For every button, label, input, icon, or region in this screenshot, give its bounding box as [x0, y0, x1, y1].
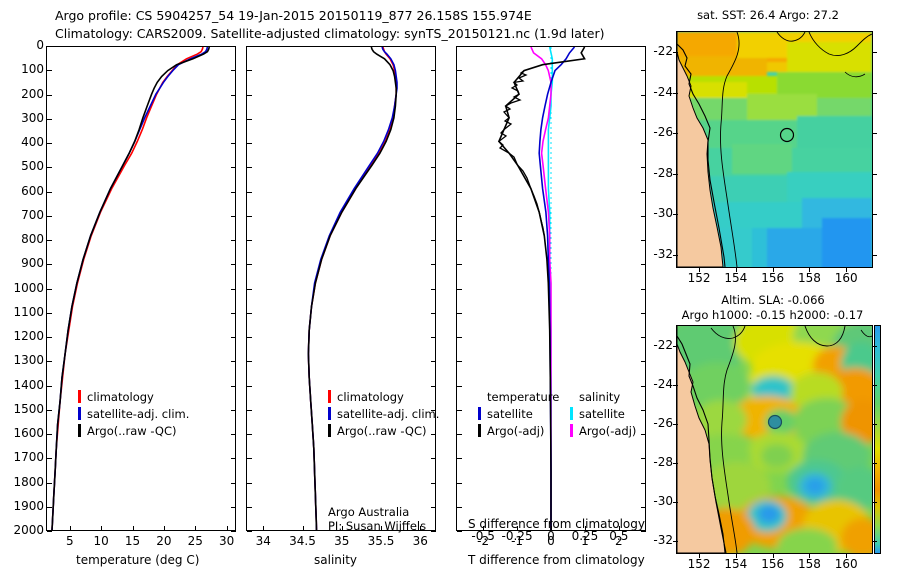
tick-mark [231, 458, 236, 459]
sla-map-title-line2: Argo h1000: -0.15 h2000: -0.17 [655, 308, 890, 322]
map-lat-tick: -30 [629, 494, 673, 508]
tick-mark [673, 255, 678, 256]
tick-mark [231, 167, 236, 168]
tick-mark [47, 361, 52, 362]
tick-mark [231, 410, 236, 411]
credit-agency: Argo Australia [328, 505, 409, 519]
legend-label-argo: Argo(..raw -QC) [87, 424, 177, 438]
tick-mark [231, 70, 236, 71]
depth-tick: 1800 [0, 475, 44, 489]
depth-tick: 1900 [0, 499, 44, 513]
tick-mark [641, 216, 646, 217]
sst-map-canvas [677, 32, 872, 267]
tick-mark [231, 531, 236, 532]
temperature-panel [46, 46, 236, 531]
tick-mark [247, 531, 252, 532]
tick-mark [457, 216, 462, 217]
tick-mark [247, 167, 252, 168]
salinity-plot [247, 47, 435, 530]
tick-mark [247, 458, 252, 459]
tick-mark [431, 337, 436, 338]
tick-mark [673, 385, 678, 386]
tick-mark [247, 46, 252, 47]
tick-mark [673, 346, 678, 347]
tick-mark [133, 526, 134, 531]
figure-root: Argo profile: CS 5904257_54 19-Jan-2015 … [0, 0, 900, 580]
map-lon-tick: 156 [753, 557, 793, 571]
tick-mark [164, 526, 165, 531]
tick-mark [47, 289, 52, 290]
tick-mark [457, 167, 462, 168]
tick-mark [483, 526, 484, 531]
tick-mark [431, 386, 436, 387]
tick-mark [773, 267, 774, 272]
tick-mark [457, 313, 462, 314]
tick-mark [381, 526, 382, 531]
depth-tick: 1400 [0, 378, 44, 392]
tick-mark [247, 386, 252, 387]
tick-mark [263, 526, 264, 531]
tick-mark [872, 346, 877, 347]
tick-mark [457, 361, 462, 362]
tick-mark [70, 526, 71, 531]
sst-map-title: sat. SST: 26.4 Argo: 27.2 [663, 8, 873, 22]
depth-tick: 600 [0, 184, 44, 198]
tick-mark [195, 526, 196, 531]
tick-mark [231, 313, 236, 314]
sst-map[interactable] [676, 31, 873, 268]
tick-mark [457, 531, 462, 532]
tick-mark [47, 531, 52, 532]
legend-header-salinity: salinity [579, 390, 620, 404]
tick-mark [231, 337, 236, 338]
map-lon-tick: 154 [716, 271, 756, 285]
tick-mark [431, 216, 436, 217]
depth-tick: 1700 [0, 450, 44, 464]
tick-mark [231, 434, 236, 435]
tick-mark [809, 267, 810, 272]
depth-tick: 300 [0, 111, 44, 125]
temperature-plot [47, 47, 235, 530]
tick-mark [641, 240, 646, 241]
temperature-xlabel: temperature (deg C) [76, 553, 199, 567]
legend-swatch-s-argo [570, 424, 573, 437]
tick-mark [231, 192, 236, 193]
tick-mark [47, 386, 52, 387]
tick-mark [247, 289, 252, 290]
tick-mark [641, 46, 646, 47]
tick-mark [431, 483, 436, 484]
tick-mark [641, 507, 646, 508]
tick-mark [872, 93, 877, 94]
tick-mark [457, 507, 462, 508]
depth-tick: 200 [0, 87, 44, 101]
map-lat-tick: -22 [629, 338, 673, 352]
tick-mark [641, 337, 646, 338]
tick-mark [231, 361, 236, 362]
difference-xlabel: T difference from climatology [468, 553, 645, 567]
tick-mark [431, 313, 436, 314]
depth-tick: 0 [0, 38, 44, 52]
depth-tick: 1300 [0, 353, 44, 367]
legend-swatch-t-argo [478, 424, 481, 437]
tick-mark [47, 46, 52, 47]
salinity-panel [246, 46, 436, 531]
tick-mark [619, 526, 620, 531]
tick-mark [457, 483, 462, 484]
tick-mark [673, 133, 678, 134]
tick-mark [872, 255, 877, 256]
map-lat-tick: -28 [629, 166, 673, 180]
tick-mark [431, 119, 436, 120]
tick-mark [872, 52, 877, 53]
tick-mark [227, 526, 228, 531]
legend-label-s-argo: Argo(-adj) [579, 424, 636, 438]
tick-mark [872, 385, 877, 386]
tick-mark [457, 264, 462, 265]
tick-mark [431, 167, 436, 168]
tick-mark [457, 240, 462, 241]
tick-mark [47, 192, 52, 193]
tick-mark [231, 119, 236, 120]
legend-label-climatology: climatology [337, 390, 404, 404]
tick-mark [641, 167, 646, 168]
map-lon-tick: 158 [789, 557, 829, 571]
tick-mark [231, 46, 236, 47]
tick-mark [872, 133, 877, 134]
salinity-xlabel: salinity [314, 553, 357, 567]
tick-mark [872, 541, 877, 542]
sla-map-canvas [677, 326, 872, 553]
tick-mark [231, 483, 236, 484]
tick-mark [247, 410, 252, 411]
map-lon-tick: 160 [826, 557, 866, 571]
tick-mark [231, 289, 236, 290]
map-lat-tick: -32 [629, 533, 673, 547]
tick-mark [872, 502, 877, 503]
tick-mark [673, 463, 678, 464]
tick-mark [673, 214, 678, 215]
tick-mark [872, 424, 877, 425]
tick-mark [809, 553, 810, 558]
tick-mark [47, 313, 52, 314]
tick-mark [47, 337, 52, 338]
tick-mark [231, 143, 236, 144]
map-lat-tick: -32 [629, 247, 673, 261]
tick-mark [641, 386, 646, 387]
tick-mark [641, 531, 646, 532]
depth-tick: 1600 [0, 426, 44, 440]
depth-tick: 700 [0, 208, 44, 222]
tick-mark [247, 337, 252, 338]
tick-mark [231, 386, 236, 387]
tick-mark [47, 95, 52, 96]
map-lat-tick: -22 [629, 44, 673, 58]
figure-title-line2: Climatology: CARS2009. Satellite-adjuste… [55, 26, 605, 41]
legend-label-satellite-adj: satellite-adj. clim. [87, 407, 189, 421]
tick-mark [47, 119, 52, 120]
legend-label-t-argo: Argo(-adj) [487, 424, 544, 438]
map-lon-tick: 152 [679, 557, 719, 571]
tick-mark [641, 192, 646, 193]
tick-mark [47, 264, 52, 265]
tick-mark [247, 143, 252, 144]
tick-mark [47, 70, 52, 71]
tick-mark [736, 553, 737, 558]
tick-mark [846, 553, 847, 558]
depth-tick: 800 [0, 232, 44, 246]
map-lat-tick: -26 [629, 416, 673, 430]
depth-tick: 2000 [0, 523, 44, 537]
tick-mark [431, 531, 436, 532]
map-lat-tick: -24 [629, 85, 673, 99]
tick-mark [431, 264, 436, 265]
argo-position-marker [769, 416, 782, 429]
difference-panel [456, 46, 646, 531]
tick-mark [641, 483, 646, 484]
depth-tick: 1200 [0, 329, 44, 343]
depth-tick: 100 [0, 62, 44, 76]
tick-mark [457, 46, 462, 47]
tick-mark [457, 458, 462, 459]
tick-mark [673, 52, 678, 53]
tick-mark [47, 410, 52, 411]
depth-tick: 500 [0, 159, 44, 173]
tick-mark [551, 526, 552, 531]
tick-mark [247, 216, 252, 217]
tick-mark [431, 70, 436, 71]
tick-mark [47, 434, 52, 435]
tick-mark [247, 483, 252, 484]
tick-mark [641, 264, 646, 265]
legend-swatch-argo [78, 424, 81, 437]
tick-mark [431, 434, 436, 435]
tick-mark [641, 289, 646, 290]
tick-mark [247, 507, 252, 508]
legend-label-t-satellite: satellite [487, 407, 533, 421]
tick-mark [641, 434, 646, 435]
map-lon-tick: 160 [826, 271, 866, 285]
map-lon-tick: 158 [789, 271, 829, 285]
map-lat-tick: -28 [629, 455, 673, 469]
tick-mark [231, 264, 236, 265]
tick-mark [517, 526, 518, 531]
tick-mark [231, 240, 236, 241]
map-lat-tick: -30 [629, 206, 673, 220]
tick-mark [342, 526, 343, 531]
legend-label-climatology: climatology [87, 390, 154, 404]
depth-tick: 400 [0, 135, 44, 149]
map-lat-tick: -26 [629, 125, 673, 139]
tick-mark [431, 95, 436, 96]
tick-mark [47, 143, 52, 144]
tick-mark [699, 267, 700, 272]
tick-mark [457, 70, 462, 71]
tick-mark [457, 386, 462, 387]
tick-mark [457, 192, 462, 193]
tick-mark [673, 541, 678, 542]
tick-mark [247, 313, 252, 314]
map-lon-tick: 156 [753, 271, 793, 285]
tick-mark [457, 289, 462, 290]
tick-mark [431, 507, 436, 508]
tick-mark [641, 70, 646, 71]
legend-swatch-climatology [328, 390, 331, 403]
tick-mark [431, 410, 436, 411]
tick-mark [673, 93, 678, 94]
tick-mark [47, 167, 52, 168]
figure-title-line1: Argo profile: CS 5904257_54 19-Jan-2015 … [55, 8, 532, 23]
tick-mark [231, 95, 236, 96]
tick-mark [431, 192, 436, 193]
tick-mark [231, 216, 236, 217]
tick-mark [247, 192, 252, 193]
tick-mark [872, 463, 877, 464]
tick-mark [457, 337, 462, 338]
tick-mark [699, 553, 700, 558]
tick-mark [47, 458, 52, 459]
tick-mark [641, 119, 646, 120]
depth-tick: 1100 [0, 305, 44, 319]
tick-mark [457, 410, 462, 411]
tick-mark [673, 174, 678, 175]
tick-mark [457, 434, 462, 435]
map-lon-tick: 154 [716, 557, 756, 571]
tick-mark [303, 526, 304, 531]
tick-mark [431, 143, 436, 144]
tick-mark [641, 143, 646, 144]
tick-mark [773, 553, 774, 558]
tick-mark [641, 458, 646, 459]
map-lat-tick: -24 [629, 377, 673, 391]
tick-mark [641, 361, 646, 362]
sla-colorbar [874, 325, 881, 554]
sla-map-title-line1: Altim. SLA: -0.066 [663, 293, 883, 307]
legend-swatch-satellite-adj [328, 407, 331, 420]
tick-mark [247, 119, 252, 120]
sla-map[interactable] [676, 325, 873, 554]
legend-swatch-t-satellite [478, 407, 481, 420]
tick-mark [247, 264, 252, 265]
tick-mark [431, 458, 436, 459]
difference-plot [457, 47, 645, 530]
map-lon-tick: 152 [679, 271, 719, 285]
legend-label-s-satellite: satellite [579, 407, 625, 421]
tick-mark [431, 46, 436, 47]
tick-mark [457, 95, 462, 96]
tick-mark [101, 526, 102, 531]
tick-mark [673, 502, 678, 503]
tick-mark [585, 526, 586, 531]
legend-swatch-satellite-adj [78, 407, 81, 420]
tick-mark [641, 313, 646, 314]
tick-mark [673, 424, 678, 425]
tick-mark [247, 70, 252, 71]
legend-label-satellite-adj: satellite-adj. clim. [337, 407, 439, 421]
depth-tick: 1500 [0, 402, 44, 416]
salinity-tick: 36 [396, 534, 444, 548]
tick-mark [872, 214, 877, 215]
depth-tick: 900 [0, 256, 44, 270]
tick-mark [47, 507, 52, 508]
tick-mark [420, 526, 421, 531]
tick-mark [47, 483, 52, 484]
tick-mark [431, 289, 436, 290]
legend-label-argo: Argo(..raw -QC) [337, 424, 427, 438]
tick-mark [247, 434, 252, 435]
tick-mark [47, 216, 52, 217]
tick-mark [457, 143, 462, 144]
tick-mark [872, 174, 877, 175]
legend-swatch-climatology [78, 390, 81, 403]
tick-mark [247, 361, 252, 362]
tick-mark [247, 95, 252, 96]
tick-mark [431, 240, 436, 241]
tick-mark [736, 267, 737, 272]
tick-mark [231, 507, 236, 508]
tick-mark [641, 95, 646, 96]
tick-mark [247, 240, 252, 241]
legend-swatch-s-satellite [570, 407, 573, 420]
tick-mark [431, 361, 436, 362]
legend-swatch-argo [328, 424, 331, 437]
depth-tick: 1000 [0, 281, 44, 295]
legend-header-temperature: temperature [487, 390, 559, 404]
tick-mark [641, 410, 646, 411]
tick-mark [47, 240, 52, 241]
tick-mark [846, 267, 847, 272]
tick-mark [457, 119, 462, 120]
